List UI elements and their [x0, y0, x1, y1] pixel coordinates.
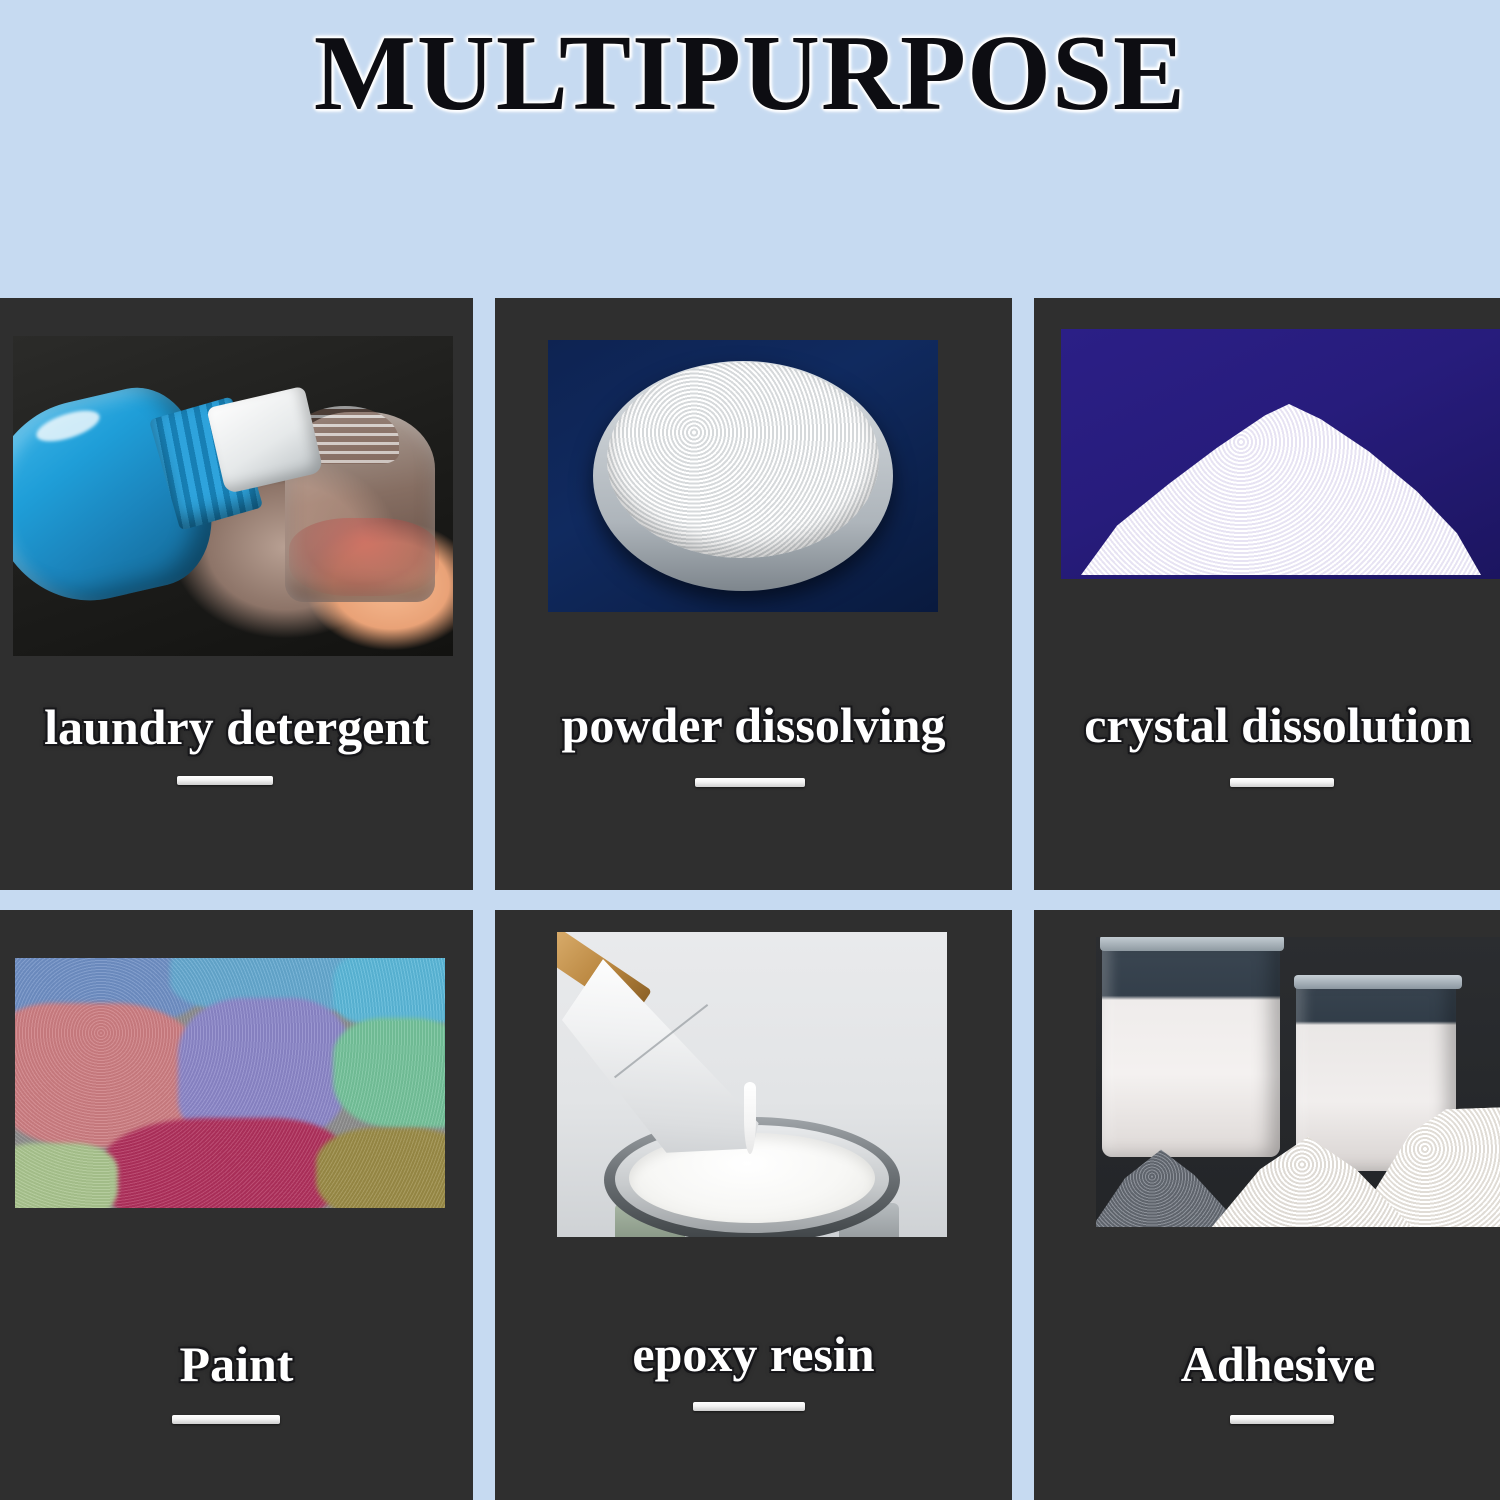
epoxy-pour-illustration — [557, 932, 947, 1237]
card-label-powder-dissolving: powder dissolving — [495, 696, 1012, 754]
card-label-crystal-dissolution: crystal dissolution — [1034, 696, 1500, 754]
beaker-right-rim — [1294, 975, 1462, 989]
infographic-page: MULTIPURPOSE laundry detergent — [0, 0, 1500, 1500]
pigment-texture-overlay — [15, 958, 445, 1208]
card-label-epoxy-resin: epoxy resin — [495, 1325, 1012, 1383]
laundry-detergent-photo — [13, 336, 453, 656]
header-banner: MULTIPURPOSE — [0, 0, 1500, 298]
card-underline-bar — [693, 1402, 805, 1411]
pigment-powders-illustration — [15, 958, 445, 1208]
page-title: MULTIPURPOSE — [0, 20, 1500, 128]
adhesive-photo — [1096, 937, 1500, 1227]
laundry-detergent-illustration — [13, 336, 453, 656]
crystal-dissolution-photo — [1061, 329, 1500, 579]
card-underline-bar — [172, 1415, 280, 1424]
card-underline-bar — [1230, 1415, 1334, 1424]
adhesive-beakers-illustration — [1096, 937, 1500, 1227]
resin-drip-shape — [744, 1082, 756, 1154]
card-underline-bar — [177, 776, 273, 785]
card-underline-bar — [695, 778, 805, 787]
card-label-laundry-detergent: laundry detergent — [0, 698, 473, 756]
beaker-left-shape — [1102, 939, 1280, 1157]
use-case-card-adhesive[interactable]: Adhesive — [1034, 910, 1500, 1500]
powder-dissolving-photo — [548, 340, 938, 612]
use-case-card-laundry-detergent[interactable]: laundry detergent — [0, 298, 473, 890]
use-case-card-crystal-dissolution[interactable]: crystal dissolution — [1034, 298, 1500, 890]
card-label-paint: Paint — [0, 1335, 473, 1393]
card-underline-bar — [1230, 778, 1334, 787]
use-case-grid: laundry detergent powder dissolving crys… — [0, 298, 1500, 1500]
white-powder-fill — [607, 362, 879, 558]
epoxy-resin-photo — [557, 932, 947, 1237]
card-label-adhesive: Adhesive — [1034, 1335, 1500, 1393]
crystal-heap-illustration — [1061, 329, 1500, 579]
use-case-card-epoxy-resin[interactable]: epoxy resin — [495, 910, 1012, 1500]
powder-dish-illustration — [548, 340, 938, 612]
crystal-heap-shape — [1081, 385, 1481, 575]
paint-photo — [15, 958, 445, 1208]
pink-liquid-shape — [289, 518, 439, 596]
use-case-card-powder-dissolving[interactable]: powder dissolving — [495, 298, 1012, 890]
use-case-card-paint[interactable]: Paint — [0, 910, 473, 1500]
beaker-left-rim — [1100, 937, 1284, 951]
